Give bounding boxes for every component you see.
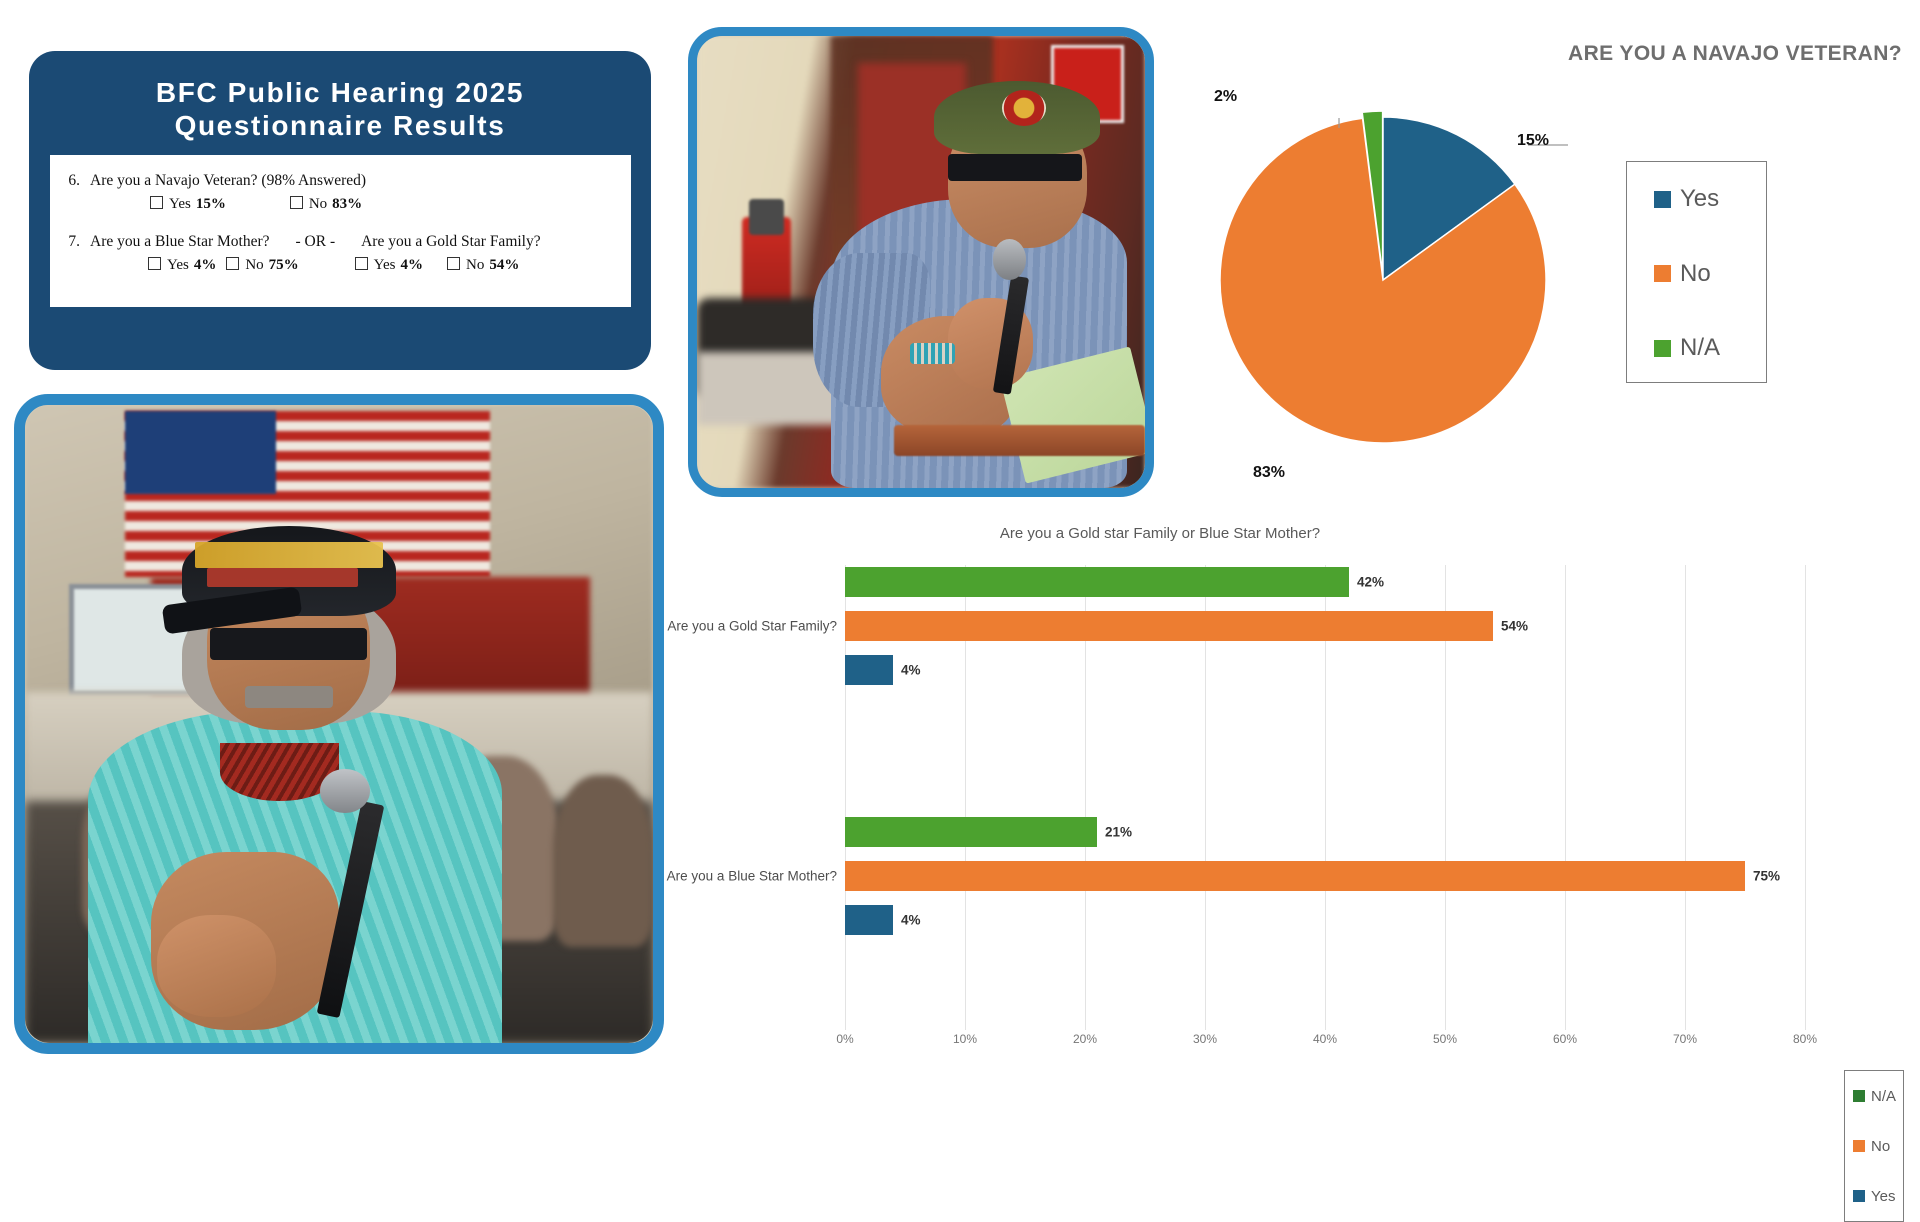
x-axis-tick: 30% [1193, 1032, 1217, 1046]
page-title: BFC Public Hearing 2025 Questionnaire Re… [29, 51, 651, 142]
cap-subtext-shape [207, 568, 358, 587]
bar-chart-section: Are you a Gold star Family or Blue Star … [640, 520, 1920, 1080]
bar-row: 42% [845, 567, 1805, 597]
bar-value-label: 42% [1357, 575, 1384, 590]
answer-label: No [309, 196, 327, 212]
answer-label: Yes [169, 196, 191, 212]
x-axis-tick: 50% [1433, 1032, 1457, 1046]
turquoise-bracelet-shape [910, 343, 955, 363]
answer-value: 75% [269, 257, 299, 273]
legend-item-na[interactable]: N/A [1845, 1071, 1903, 1121]
bar-row: 4% [845, 905, 1805, 935]
answer-no-6: No83% [290, 196, 362, 213]
answer-label: No [466, 257, 484, 273]
audience-person-shape [553, 775, 653, 947]
legend-label: Yes [1680, 185, 1719, 213]
bar-na[interactable]: 42% [845, 567, 1349, 597]
bar-na[interactable]: 21% [845, 817, 1097, 847]
x-axis-tick: 60% [1553, 1032, 1577, 1046]
questionnaire-results-box: 6. Are you a Navajo Veteran? (98% Answer… [50, 155, 631, 307]
bar-value-label: 4% [901, 663, 921, 678]
answer-no-7-left: No75% [226, 257, 298, 274]
answer-label: Yes [374, 257, 396, 273]
bar-no[interactable]: 75% [845, 861, 1745, 891]
photo-content [25, 405, 653, 1043]
mustache-shape [245, 686, 333, 708]
bar-chart-legend: N/A No Yes [1844, 1070, 1904, 1222]
question-number-7: 7. [50, 233, 90, 251]
pie-chart-title: ARE YOU A NAVAJO VETERAN? [1568, 42, 1902, 66]
answer-value: 15% [196, 196, 226, 212]
legend-label: No [1871, 1138, 1890, 1155]
question-number-6: 6. [50, 172, 90, 190]
question-separator-or: - OR - [270, 233, 362, 251]
bar-yes[interactable]: 4% [845, 655, 893, 685]
category-label: Are you a Gold Star Family? [667, 619, 837, 634]
photo-elder-with-flag [14, 394, 664, 1054]
pie-label-no: 83% [1253, 464, 1285, 482]
question-text-6: Are you a Navajo Veteran? (98% Answered) [90, 172, 631, 190]
legend-swatch-icon [1853, 1190, 1865, 1202]
person-hand-shape [157, 915, 276, 1017]
bar-row: 4% [845, 655, 1805, 685]
answer-label: Yes [167, 257, 189, 273]
answer-line-6: Yes15% No83% [50, 196, 631, 213]
bar-value-label: 75% [1753, 869, 1780, 884]
checkbox-icon[interactable] [226, 257, 239, 270]
bar-chart-title: Are you a Gold star Family or Blue Star … [640, 525, 1680, 542]
gridline [1805, 565, 1806, 1030]
checkbox-icon[interactable] [290, 196, 303, 209]
question-text-7-right: Are you a Gold Star Family? [361, 233, 541, 251]
legend-label: N/A [1680, 334, 1720, 362]
pie-chart-canvas: 2% 15% 83% [1198, 90, 1578, 470]
x-axis-tick: 80% [1793, 1032, 1817, 1046]
legend-item-no[interactable]: No [1845, 1121, 1903, 1171]
x-axis-tick: 70% [1673, 1032, 1697, 1046]
bar-chart-x-axis: 0%10%20%30%40%50%60%70%80% [845, 1032, 1805, 1052]
bar-value-label: 4% [901, 913, 921, 928]
legend-item-yes[interactable]: Yes [1845, 1171, 1903, 1221]
photo-elder-at-microphone [688, 27, 1154, 497]
question-text-7-left: Are you a Blue Star Mother? [90, 233, 270, 251]
x-axis-tick: 10% [953, 1032, 977, 1046]
answer-no-7-right: No54% [447, 257, 519, 274]
bar-row: 75%Are you a Blue Star Mother? [845, 861, 1805, 891]
question-row-6: 6. Are you a Navajo Veteran? (98% Answer… [50, 172, 631, 190]
us-flag-canton-shape [125, 411, 276, 494]
legend-label: N/A [1871, 1088, 1896, 1105]
eyeglasses-shape [948, 154, 1082, 181]
x-axis-tick: 0% [836, 1032, 853, 1046]
legend-item-no[interactable]: No [1627, 237, 1766, 312]
bar-value-label: 54% [1501, 619, 1528, 634]
checkbox-icon[interactable] [355, 257, 368, 270]
eyeglasses-shape [210, 628, 367, 660]
answer-line-7: Yes4% No75% Yes4% No54% [50, 257, 631, 274]
fire-extinguisher-valve-shape [749, 199, 785, 235]
answer-yes-6: Yes15% [150, 196, 226, 213]
pie-chart-legend: Yes No N/A [1626, 161, 1767, 383]
microphone-head-shape [993, 239, 1027, 280]
legend-swatch-icon [1654, 340, 1671, 357]
bar-no[interactable]: 54% [845, 611, 1493, 641]
bar-yes[interactable]: 4% [845, 905, 893, 935]
wood-podium-shape [894, 425, 1145, 457]
pie-label-na: 2% [1214, 88, 1237, 106]
legend-swatch-icon [1654, 191, 1671, 208]
x-axis-tick: 40% [1313, 1032, 1337, 1046]
legend-swatch-icon [1853, 1090, 1865, 1102]
legend-label: No [1680, 260, 1711, 288]
pie-label-yes: 15% [1517, 132, 1549, 150]
answer-yes-7-left: Yes4% [148, 257, 216, 274]
legend-item-yes[interactable]: Yes [1627, 162, 1766, 237]
answer-value: 83% [332, 196, 362, 212]
checkbox-icon[interactable] [148, 257, 161, 270]
bar-row: 21% [845, 817, 1805, 847]
answer-label: No [245, 257, 263, 273]
photo-content [697, 36, 1145, 488]
legend-swatch-icon [1654, 265, 1671, 282]
pie-chart-section: ARE YOU A NAVAJO VETERAN? 2% 15% 83% [1150, 20, 1920, 520]
bar-chart-plot-area: 42%54%Are you a Gold Star Family?4%21%75… [845, 565, 1805, 1030]
bar-row: 54%Are you a Gold Star Family? [845, 611, 1805, 641]
question-row-7: 7. Are you a Blue Star Mother? - OR - Ar… [50, 233, 631, 251]
answer-yes-7-right: Yes4% [355, 257, 423, 274]
checkbox-icon[interactable] [150, 196, 163, 209]
x-axis-tick: 20% [1073, 1032, 1097, 1046]
answer-value: 54% [489, 257, 519, 273]
checkbox-icon[interactable] [447, 257, 460, 270]
legend-swatch-icon [1853, 1140, 1865, 1152]
legend-label: Yes [1871, 1188, 1895, 1205]
answer-value: 4% [401, 257, 424, 273]
bar-value-label: 21% [1105, 825, 1132, 840]
legend-item-na[interactable]: N/A [1627, 311, 1766, 386]
answer-value: 4% [194, 257, 217, 273]
cap-text-shape [195, 542, 383, 568]
category-label: Are you a Blue Star Mother? [667, 869, 837, 884]
